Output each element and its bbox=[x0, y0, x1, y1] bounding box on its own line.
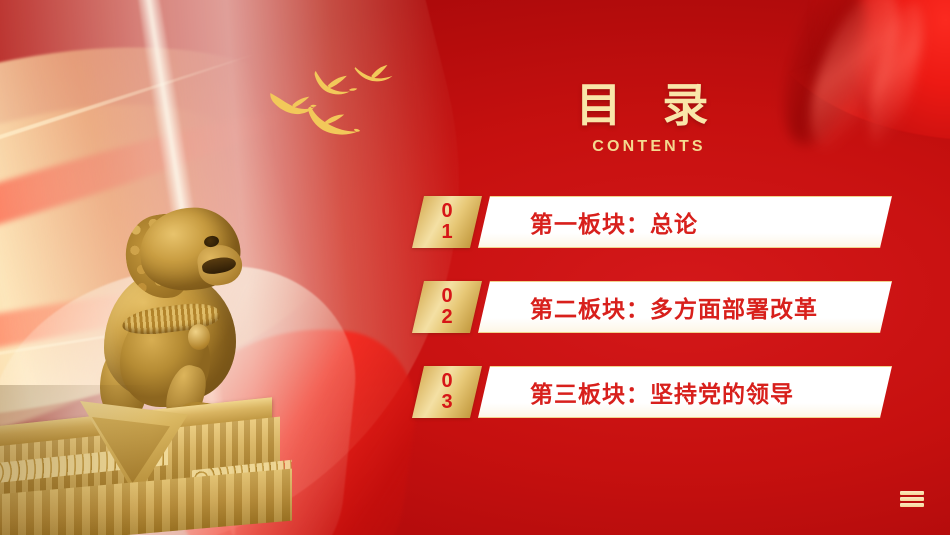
item-number-top: 0 bbox=[441, 201, 452, 222]
item-number-bottom: 1 bbox=[441, 222, 452, 243]
item-label: 第三板块：坚持党的领导 bbox=[478, 366, 892, 418]
item-number: 0 2 bbox=[418, 281, 476, 333]
menu-icon-bar-3 bbox=[900, 503, 924, 507]
dove-icon-4 bbox=[303, 102, 363, 141]
item-number-top: 0 bbox=[441, 371, 452, 392]
list-item[interactable]: 0 2 第二板块：多方面部署改革 bbox=[412, 281, 892, 333]
dove-icon-3 bbox=[350, 52, 397, 92]
contents-list: 0 1 第一板块：总论 0 2 第二板块：多方面部署改革 0 3 第三板块：坚持… bbox=[412, 196, 892, 418]
flying-doves-group bbox=[270, 58, 395, 156]
menu-icon[interactable] bbox=[900, 491, 924, 507]
page-title: 目 录 bbox=[468, 80, 830, 131]
title-block: 目 录 CONTENTS bbox=[468, 80, 830, 156]
item-label: 第二板块：多方面部署改革 bbox=[478, 281, 892, 333]
item-number-top: 0 bbox=[441, 286, 452, 307]
item-number: 0 3 bbox=[418, 366, 476, 418]
item-number-bottom: 3 bbox=[441, 392, 452, 413]
menu-icon-bar-2 bbox=[900, 497, 924, 501]
slide-canvas: 目 录 CONTENTS 0 1 第一板块：总论 0 2 第二板块：多方面部署改… bbox=[0, 0, 950, 535]
list-item[interactable]: 0 1 第一板块：总论 bbox=[412, 196, 892, 248]
item-number: 0 1 bbox=[418, 196, 476, 248]
lion-bell bbox=[188, 324, 210, 350]
page-subtitle: CONTENTS bbox=[468, 138, 830, 156]
item-number-bottom: 2 bbox=[441, 307, 452, 328]
list-item[interactable]: 0 3 第三板块：坚持党的领导 bbox=[412, 366, 892, 418]
menu-icon-bar-1 bbox=[900, 491, 924, 495]
item-label: 第一板块：总论 bbox=[478, 196, 892, 248]
